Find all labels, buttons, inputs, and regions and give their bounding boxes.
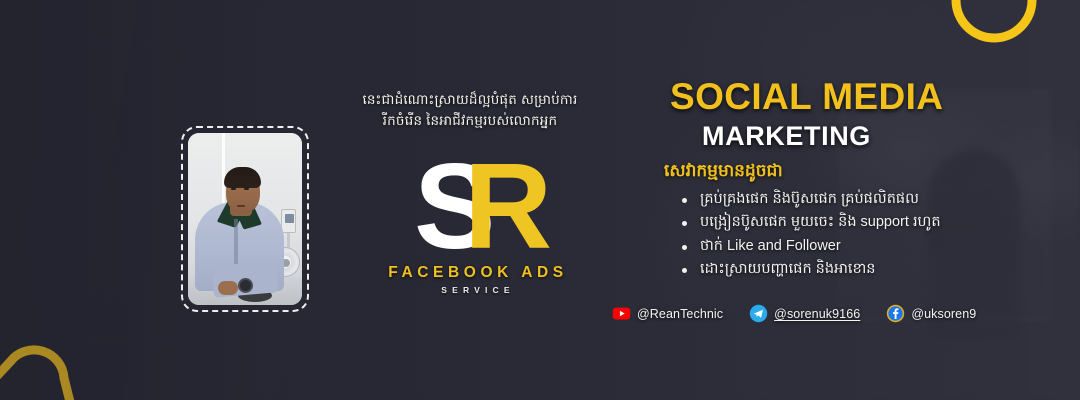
services-heading: សេវាកម្មមានដូចជា <box>640 161 1060 181</box>
social-handle-telegram[interactable]: @sorenuk9166 <box>774 307 860 321</box>
brand-logo: S R FACEBOOK ADS SERVICE <box>378 148 578 313</box>
photo-person-hand <box>218 281 238 295</box>
profile-photo <box>188 133 302 305</box>
photo-device <box>281 209 296 233</box>
social-link-facebook[interactable]: @uksoren9 <box>886 304 976 323</box>
tagline-line-1: នេះជាដំណោះស្រាយដ៏ល្អបំផុត សម្រាប់ការ <box>330 90 610 111</box>
list-item: ថាក់ Like and Follower <box>680 235 1060 259</box>
facebook-icon[interactable] <box>886 304 905 323</box>
youtube-icon[interactable] <box>612 304 631 323</box>
page-title: SOCIAL MEDIA <box>640 78 1060 116</box>
social-link-youtube[interactable]: @ReanTechnic <box>612 304 723 323</box>
photo-device-stand <box>287 233 290 249</box>
social-links: @ReanTechnic @sorenuk9166 @uksoren9 <box>612 304 976 323</box>
social-handle-facebook[interactable]: @uksoren9 <box>911 307 976 321</box>
page-subtitle: MARKETING <box>640 122 1060 152</box>
tagline: នេះជាដំណោះស្រាយដ៏ល្អបំផុត សម្រាប់ការ រីក… <box>330 90 610 132</box>
tagline-line-2: រីកចំរើន នៃអាជីវកម្មរបស់លោកអ្នក <box>330 111 610 132</box>
list-item: ដោះស្រាយបញ្ហាផេក និងអាខោន <box>680 258 1060 282</box>
logo-subcaption: SERVICE <box>378 285 578 295</box>
logo-caption: FACEBOOK ADS <box>378 264 578 282</box>
logo-mark-icon: S R <box>378 148 578 266</box>
telegram-icon[interactable] <box>749 304 768 323</box>
photo-person-mouth <box>237 205 245 207</box>
right-content: SOCIAL MEDIA MARKETING សេវាកម្មមានដូចជា … <box>640 78 1060 282</box>
list-item: គ្រប់គ្រងផេក និងប៊ូសផេក គ្រប់ផលិតផល <box>680 188 1060 212</box>
photo-person-eye-right <box>244 188 249 190</box>
photo-person-eye-left <box>231 188 236 190</box>
promo-banner: នេះជាដំណោះស្រាយដ៏ល្អបំផុត សម្រាប់ការ រីក… <box>0 0 1080 400</box>
social-link-telegram[interactable]: @sorenuk9166 <box>749 304 860 323</box>
social-handle-youtube[interactable]: @ReanTechnic <box>637 307 723 321</box>
logo-letter-r: R <box>464 148 552 266</box>
photo-wall-edge <box>222 133 225 212</box>
services-list: គ្រប់គ្រងផេក និងប៊ូសផេក គ្រប់ផលិតផល បង្រ… <box>640 188 1060 282</box>
photo-person-hair <box>224 167 261 188</box>
avatar <box>181 126 309 312</box>
list-item: បង្រៀនប៊ូសផេក មួយចេះ និង support រហូត <box>680 211 1060 235</box>
photo-shirt-placket <box>234 219 238 264</box>
